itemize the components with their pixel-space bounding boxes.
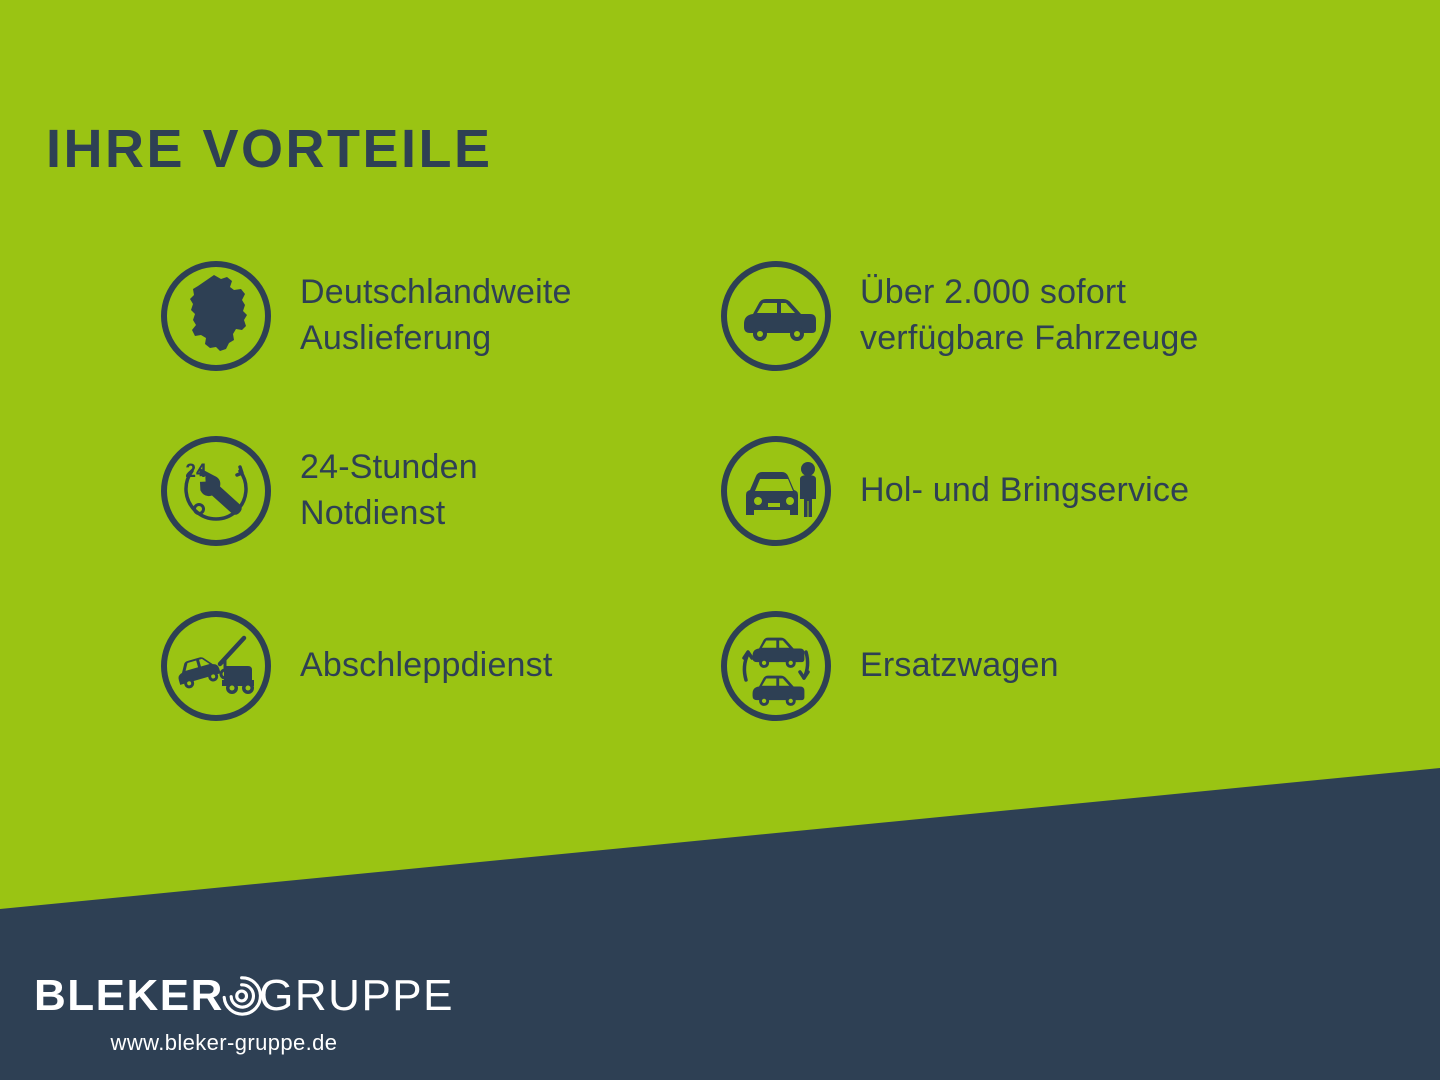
benefit-label: 24-Stunden Notdienst (300, 445, 478, 537)
car-with-person-icon (718, 433, 834, 549)
brand-logo: BLEKER GRUPPE www.bleker-gruppe.de (34, 968, 454, 1056)
benefit-item-abschleppdienst: Abschleppdienst (158, 578, 718, 753)
24-hour-wrench-icon: 24 (158, 433, 274, 549)
benefits-grid: Deutschlandweite Auslieferung Über 2.000… (158, 228, 1348, 753)
page-title: IHRE VORTEILE (46, 122, 493, 176)
benefit-label: Deutschlandweite Auslieferung (300, 270, 572, 362)
benefit-label: Hol- und Bringservice (860, 468, 1189, 514)
benefit-item-hol-und-bringservice: Hol- und Bringservice (718, 403, 1278, 578)
benefit-label: Abschleppdienst (300, 643, 553, 689)
logo-word-gruppe: GRUPPE (259, 974, 454, 1018)
benefit-item-ersatzwagen: Ersatzwagen (718, 578, 1278, 753)
logo-website-url: www.bleker-gruppe.de (34, 1030, 414, 1056)
tow-truck-icon (158, 608, 274, 724)
germany-map-icon (158, 258, 274, 374)
car-side-icon (718, 258, 834, 374)
benefit-item-deutschlandweite-auslieferung: Deutschlandweite Auslieferung (158, 228, 718, 403)
bleker-spiral-icon (220, 965, 263, 1027)
logo-word-bleker: BLEKER (34, 974, 224, 1018)
benefit-label: Über 2.000 sofort verfügbare Fahrzeuge (860, 270, 1199, 362)
benefit-label: Ersatzwagen (860, 643, 1059, 689)
benefit-item-24-stunden-notdienst: 24 24-Stunden Notdienst (158, 403, 718, 578)
logo-wordmark-row: BLEKER GRUPPE (34, 968, 454, 1024)
car-exchange-icon (718, 608, 834, 724)
slide-canvas: IHRE VORTEILE Deutschlandweite Ausliefer… (0, 0, 1440, 1080)
benefit-item-verfuegbare-fahrzeuge: Über 2.000 sofort verfügbare Fahrzeuge (718, 228, 1278, 403)
